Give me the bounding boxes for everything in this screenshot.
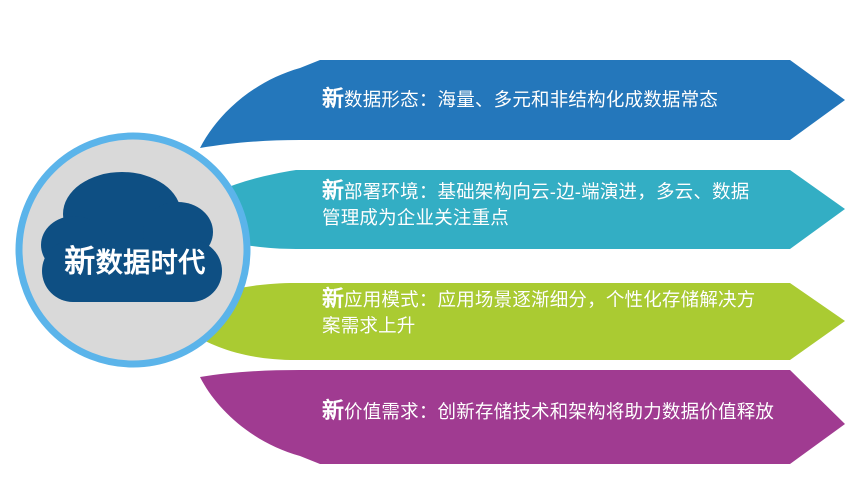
banner-1-lead: 新	[322, 86, 344, 111]
infographic-canvas: 新数据时代 新数据形态：海量、多元和非结构化成数据常态 新部署环境：基础架构向云…	[0, 0, 860, 479]
center-label: 新数据时代	[42, 246, 228, 279]
banner-4-label: 新价值需求：创新存储技术和架构将助力数据价值释放	[322, 398, 822, 425]
banner-2-label: 新部署环境：基础架构向云-边-端演进，多云、数据 管理成为企业关注重点	[322, 178, 777, 231]
banner-3-label: 新应用模式：应用场景逐渐细分，个性化存储解决方 案需求上升	[322, 286, 777, 339]
banner-2-body: 部署环境：基础架构向云-边-端演进，多云、数据 管理成为企业关注重点	[322, 181, 749, 228]
banner-1-label: 新数据形态：海量、多元和非结构化成数据常态	[322, 86, 822, 113]
banner-3-body: 应用模式：应用场景逐渐细分，个性化存储解决方 案需求上升	[322, 289, 755, 336]
banner-4-lead: 新	[322, 398, 344, 423]
center-label-rest: 数据时代	[96, 248, 206, 278]
banner-1-body: 数据形态：海量、多元和非结构化成数据常态	[344, 89, 718, 110]
banner-3-lead: 新	[322, 286, 344, 311]
banner-2-lead: 新	[322, 178, 344, 203]
banner-4-body: 价值需求：创新存储技术和架构将助力数据价值释放	[344, 401, 774, 422]
center-label-lead: 新	[64, 244, 96, 279]
